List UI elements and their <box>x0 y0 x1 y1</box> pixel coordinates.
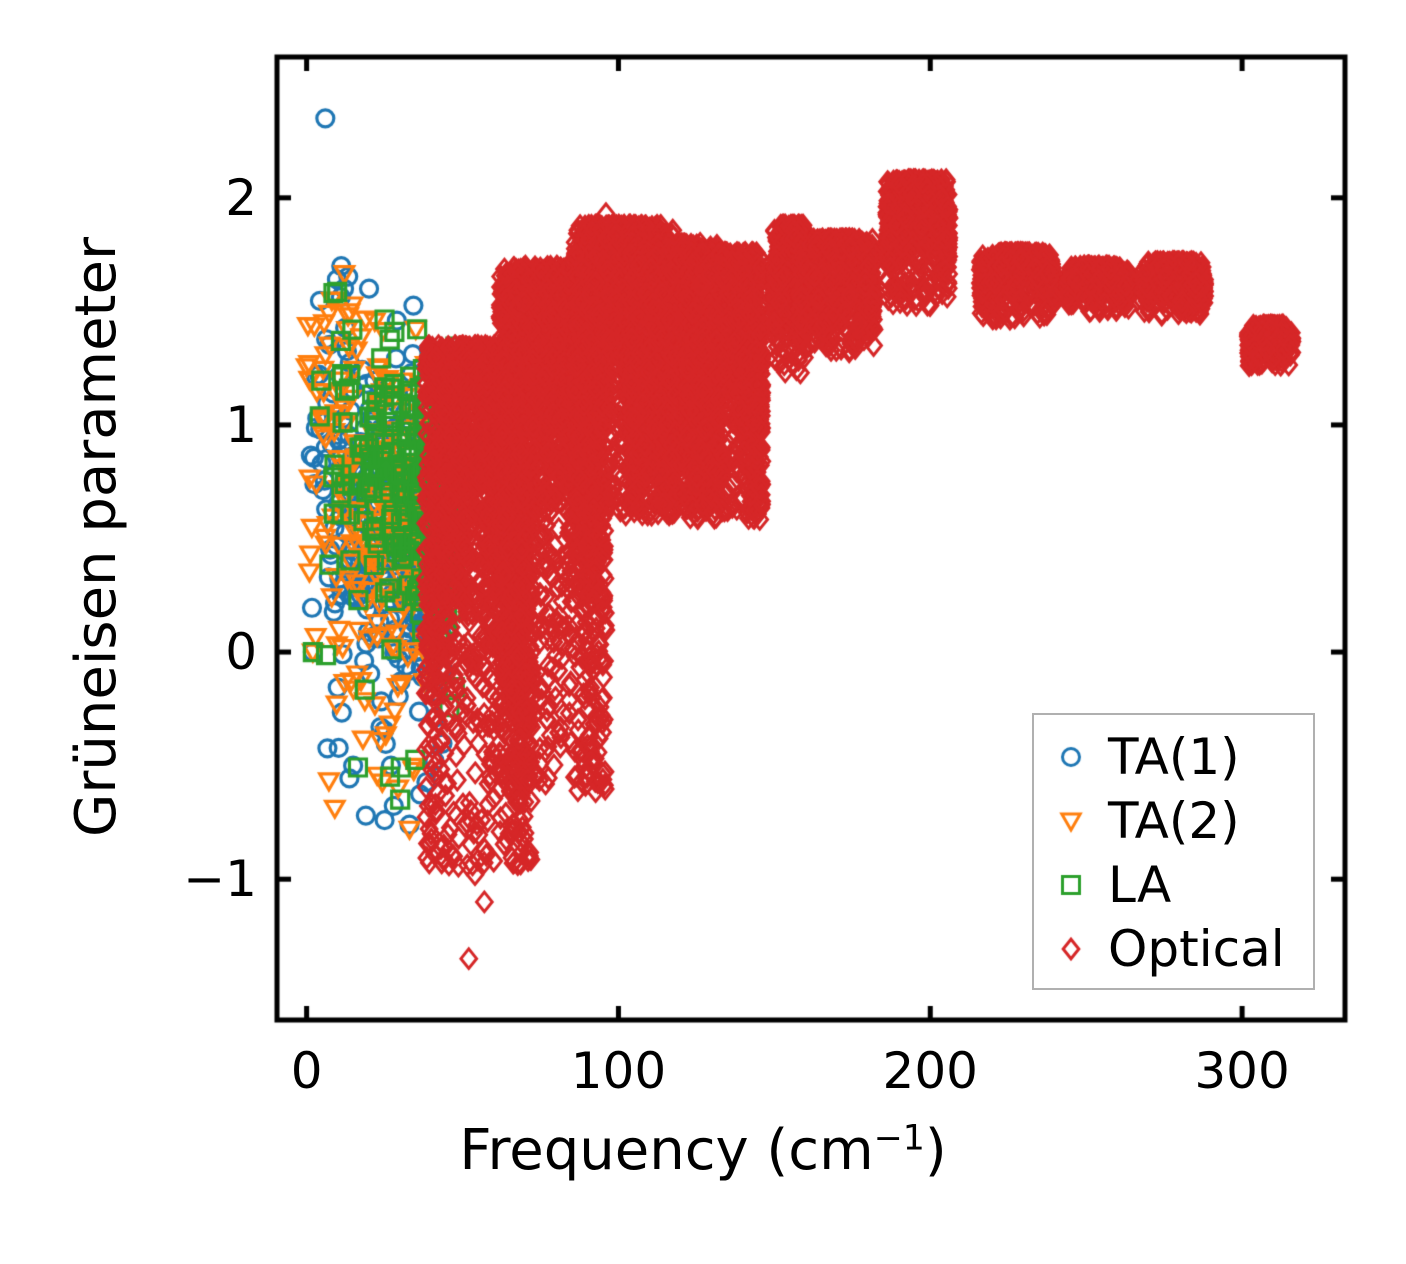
legend-label: TA(2) <box>1108 796 1240 846</box>
legend-item-ta2[interactable]: TA(2) <box>1034 789 1317 853</box>
legend-label: TA(1) <box>1108 732 1240 782</box>
legend-item-ta1[interactable]: TA(1) <box>1034 725 1317 789</box>
legend-label: LA <box>1108 860 1171 910</box>
legend-item-optical[interactable]: Optical <box>1034 917 1317 981</box>
legend-item-la[interactable]: LA <box>1034 853 1317 917</box>
legend: TA(1)TA(2)LAOptical <box>1032 713 1315 990</box>
legend-label: Optical <box>1108 924 1285 974</box>
figure-canvas-root: Frequency (cm−1) Grüneisen parameter 010… <box>0 0 1406 1264</box>
legend-marker-circle-icon <box>1034 739 1108 775</box>
legend-marker-diamond-icon <box>1034 931 1108 967</box>
legend-marker-triangle-down-icon <box>1034 803 1108 839</box>
legend-marker-square-icon <box>1034 867 1108 903</box>
scatter-plot-canvas <box>0 0 1406 1264</box>
